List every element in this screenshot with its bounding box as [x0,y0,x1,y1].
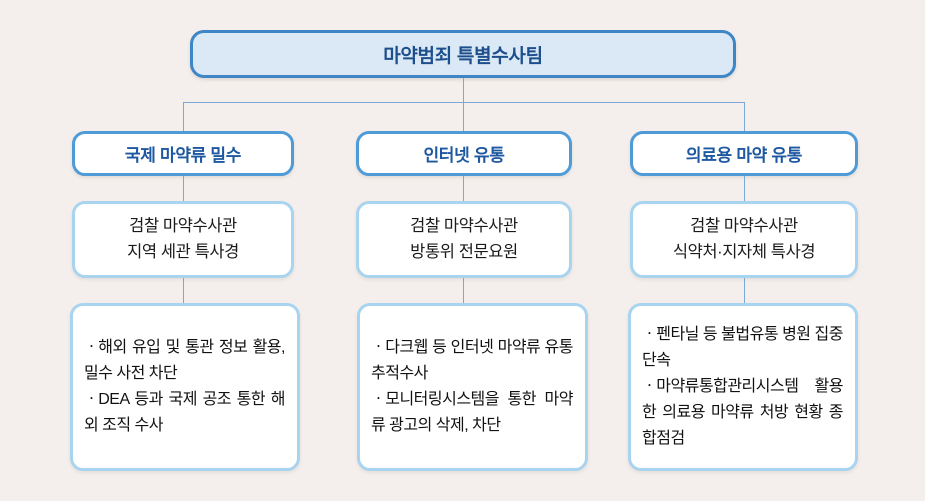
category-node-label: 의료용 마약 유통 [686,141,802,166]
root-node-label: 마약범죄 특별수사팀 [383,41,543,68]
detail-node-col2: ㆍ다크웹 등 인터넷 마약류 유통 추적수사 ㆍ모니터링시스템을 통한 마약류 … [357,303,588,471]
connector-col3-staff-to-detail [744,278,745,303]
connector-drop-col2 [463,102,464,133]
org-chart-diagram: 마약범죄 특별수사팀 국제 마약류 밀수 검찰 마약수사관 지역 세관 특사경 … [0,0,925,501]
root-node-special-investigation-team: 마약범죄 특별수사팀 [190,30,736,78]
staff-node-label: 검찰 마약수사관 방통위 전문요원 [410,214,518,265]
staff-node-col3: 검찰 마약수사관 식약처·지자체 특사경 [630,201,858,278]
staff-node-col1: 검찰 마약수사관 지역 세관 특사경 [72,201,294,278]
category-node-international-smuggling: 국제 마약류 밀수 [72,131,294,176]
detail-node-col1: ㆍ해외 유입 및 통관 정보 활용, 밀수 사전 차단 ㆍDEA 등과 국제 공… [70,303,300,471]
connector-col1-staff-to-detail [183,278,184,303]
staff-node-col2: 검찰 마약수사관 방통위 전문요원 [356,201,572,278]
connector-drop-col3 [744,102,745,133]
staff-node-label: 검찰 마약수사관 지역 세관 특사경 [127,214,239,265]
detail-node-label: ㆍ펜타닐 등 불법유통 병원 집중단속 ㆍ마약류통합관리시스템 활용한 의료용 … [642,322,843,452]
category-node-label: 국제 마약류 밀수 [125,141,241,166]
connector-drop-col1 [183,102,184,133]
staff-node-label: 검찰 마약수사관 식약처·지자체 특사경 [673,214,815,265]
category-node-label: 인터넷 유통 [423,141,504,166]
connector-horizontal-bus [183,102,745,103]
category-node-internet-distribution: 인터넷 유통 [356,131,572,176]
connector-root-stem [463,78,464,102]
connector-col1-cat-to-staff [183,176,184,201]
detail-node-label: ㆍ다크웹 등 인터넷 마약류 유통 추적수사 ㆍ모니터링시스템을 통한 마약류 … [371,335,573,439]
connector-col2-staff-to-detail [463,278,464,303]
connector-col3-cat-to-staff [744,176,745,201]
detail-node-label: ㆍ해외 유입 및 통관 정보 활용, 밀수 사전 차단 ㆍDEA 등과 국제 공… [84,335,285,439]
category-node-medical-narcotics: 의료용 마약 유통 [630,131,858,176]
connector-col2-cat-to-staff [463,176,464,201]
detail-node-col3: ㆍ펜타닐 등 불법유통 병원 집중단속 ㆍ마약류통합관리시스템 활용한 의료용 … [628,303,858,471]
